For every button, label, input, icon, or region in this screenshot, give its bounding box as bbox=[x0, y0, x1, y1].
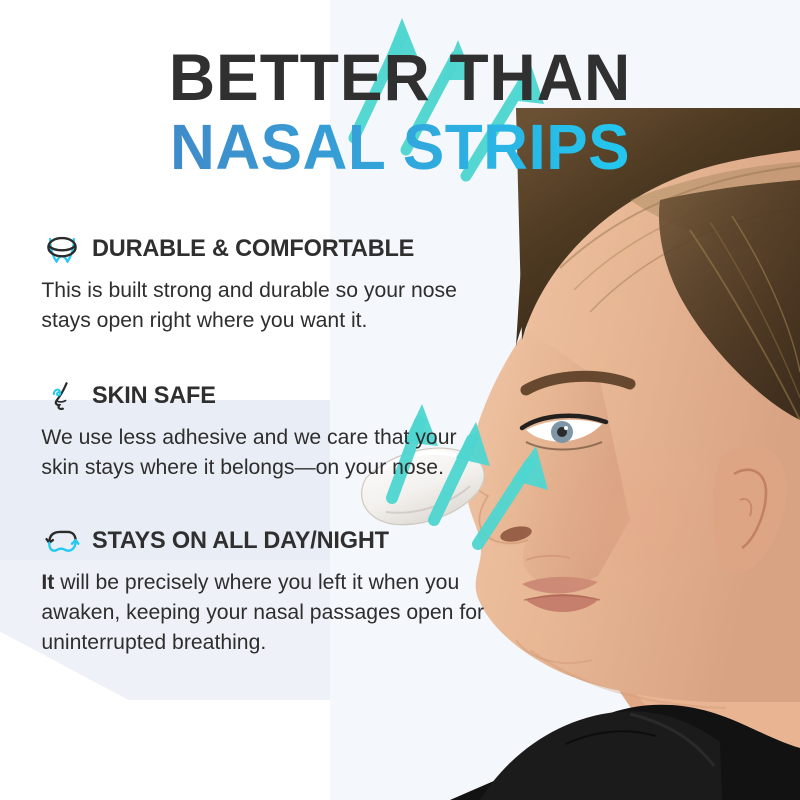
headline: BETTER THAN NASAL STRIPS bbox=[0, 46, 800, 178]
feature-body-lead: It bbox=[41, 570, 54, 594]
feature-list: DURABLE & COMFORTABLE This is built stro… bbox=[0, 232, 500, 687]
headline-line-2: NASAL STRIPS bbox=[12, 116, 788, 178]
nose-profile-icon bbox=[42, 379, 82, 413]
feature-title: STAYS ON ALL DAY/NIGHT bbox=[92, 527, 389, 555]
feature-body: We use less adhesive and we care that yo… bbox=[0, 422, 493, 482]
feature-item-stays-on: STAYS ON ALL DAY/NIGHT It will be precis… bbox=[0, 524, 500, 657]
feature-item-durable: DURABLE & COMFORTABLE This is built stro… bbox=[0, 232, 500, 335]
headline-line-1: BETTER THAN bbox=[12, 46, 788, 108]
feature-body: It will be precisely where you left it w… bbox=[0, 567, 493, 657]
infographic-canvas: BETTER THAN NASAL STRIPS DURABLE & COMFO… bbox=[0, 0, 800, 800]
feature-heading-row: STAYS ON ALL DAY/NIGHT bbox=[0, 524, 500, 558]
feature-heading-row: DURABLE & COMFORTABLE bbox=[0, 232, 500, 266]
feature-heading-row: SKIN SAFE bbox=[0, 379, 500, 413]
nasal-dilator-icon bbox=[42, 232, 82, 266]
feature-title: DURABLE & COMFORTABLE bbox=[92, 235, 414, 263]
feature-body: This is built strong and durable so your… bbox=[0, 275, 493, 335]
feature-title: SKIN SAFE bbox=[92, 382, 216, 410]
feature-body-rest: will be precisely where you left it when… bbox=[41, 570, 484, 654]
feature-item-skin-safe: SKIN SAFE We use less adhesive and we ca… bbox=[0, 379, 500, 482]
all-day-loop-icon bbox=[42, 524, 82, 558]
